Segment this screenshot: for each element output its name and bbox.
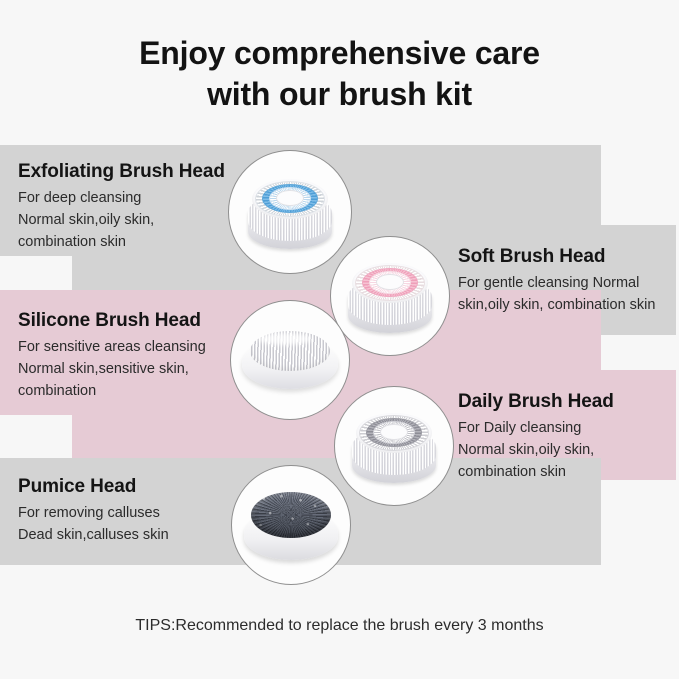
desc-line-2: skin,oily skin, combination skin [458,294,655,316]
daily-brush-head-image [334,386,454,506]
product-desc-daily: For Daily cleansing Normal skin,oily ski… [458,417,614,483]
page-title: Enjoy comprehensive care with our brush … [0,33,679,115]
infographic-canvas: Enjoy comprehensive care with our brush … [0,0,679,679]
product-title-exfoliating: Exfoliating Brush Head [18,160,225,184]
product-desc-soft: For gentle cleansing Normal skin,oily sk… [458,272,655,316]
product-text-exfoliating: Exfoliating Brush Head For deep cleansin… [18,160,225,253]
exfoliating-brush-head-image [228,150,352,274]
product-text-soft: Soft Brush Head For gentle cleansing Nor… [458,245,655,316]
desc-line-1: For Daily cleansing [458,417,614,439]
product-desc-exfoliating: For deep cleansing Normal skin,oily skin… [18,187,225,253]
product-text-silicone: Silicone Brush Head For sensitive areas … [18,309,206,402]
title-line-1: Enjoy comprehensive care [139,35,540,71]
product-text-pumice: Pumice Head For removing calluses Dead s… [18,475,169,546]
desc-line-2: Normal skin,sensitive skin, [18,358,206,380]
pumice-head-image [231,465,351,585]
silicone-brush-icon [242,329,338,391]
desc-line-2: Dead skin,calluses skin [18,524,169,546]
desc-line-2: Normal skin,oily skin, [18,209,225,231]
brush-icon [244,175,336,253]
product-title-pumice: Pumice Head [18,475,169,499]
product-desc-silicone: For sensitive areas cleansing Normal ski… [18,336,206,402]
product-title-soft: Soft Brush Head [458,245,655,269]
brush-icon [348,409,440,487]
silicone-brush-head-image [230,300,350,420]
tips-note: TIPS:Recommended to replace the brush ev… [0,617,679,635]
title-line-2: with our brush kit [0,74,679,115]
desc-line-3: combination skin [18,231,225,253]
product-title-silicone: Silicone Brush Head [18,309,206,333]
desc-line-3: combination [18,380,206,402]
pumice-stone-icon [244,492,338,562]
desc-line-2: Normal skin,oily skin, [458,439,614,461]
desc-line-1: For gentle cleansing Normal [458,272,655,294]
brush-icon [344,259,436,337]
desc-line-1: For deep cleansing [18,187,225,209]
product-text-daily: Daily Brush Head For Daily cleansing Nor… [458,390,614,483]
desc-line-3: combination skin [458,461,614,483]
product-title-daily: Daily Brush Head [458,390,614,414]
desc-line-1: For removing calluses [18,502,169,524]
desc-line-1: For sensitive areas cleansing [18,336,206,358]
soft-brush-head-image [330,236,450,356]
product-desc-pumice: For removing calluses Dead skin,calluses… [18,502,169,546]
